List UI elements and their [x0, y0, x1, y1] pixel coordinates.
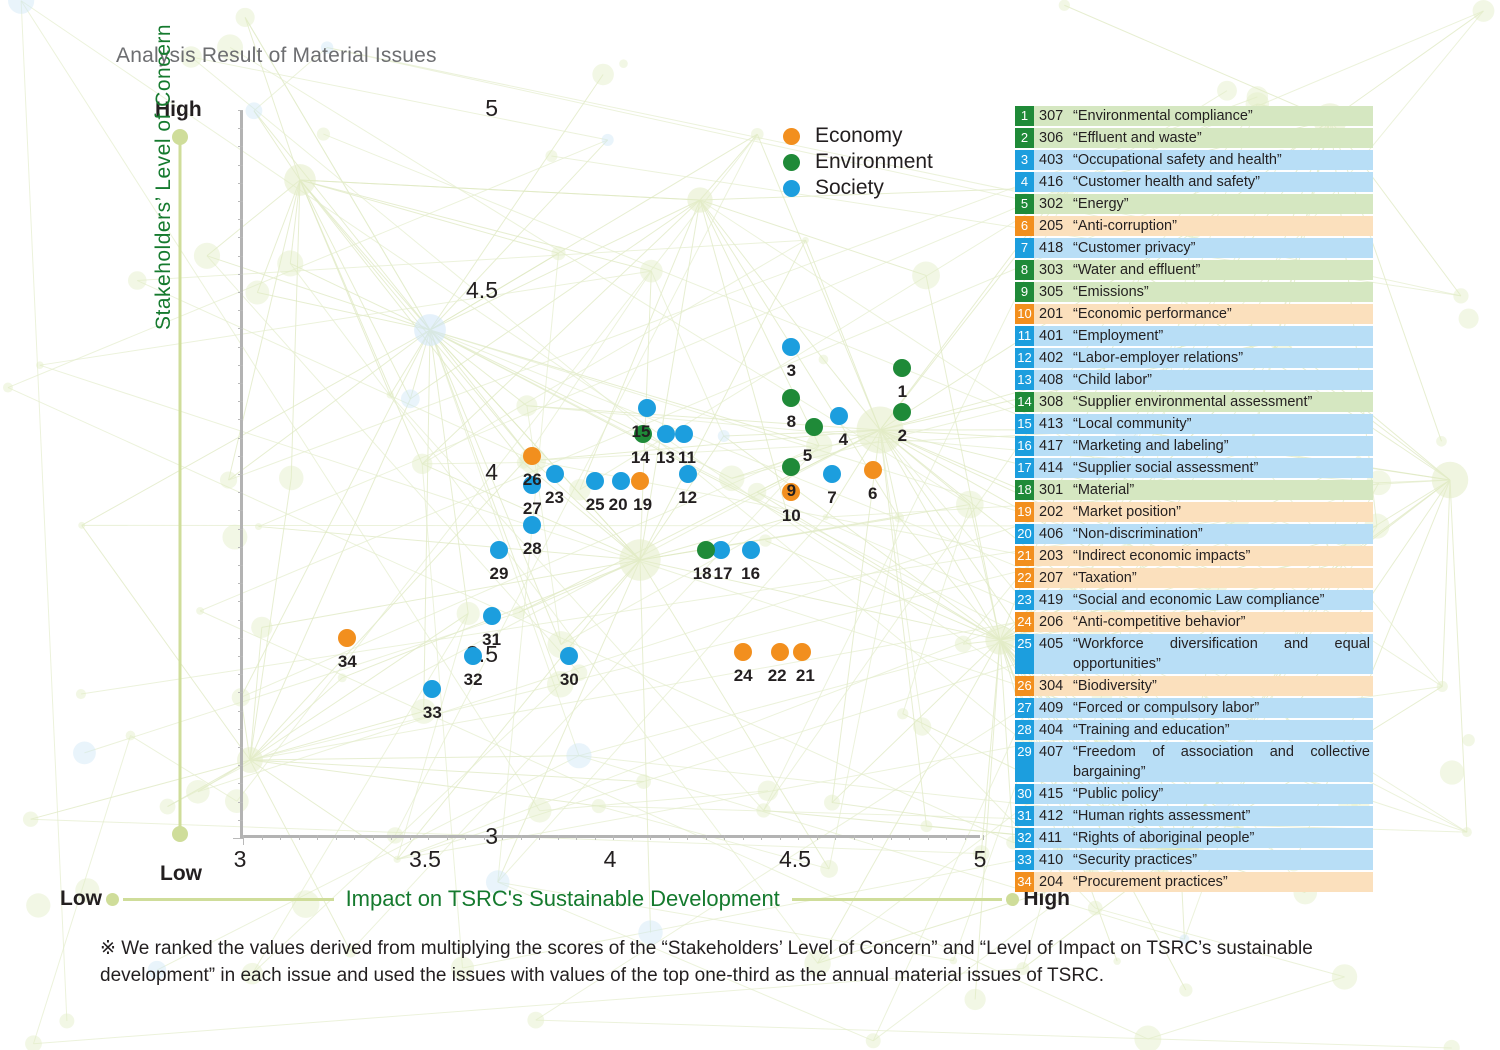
x-axis-left-dot: [106, 893, 119, 906]
issue-number-badge: 24: [1015, 612, 1034, 632]
x-axis-tick: [761, 835, 762, 840]
issue-name: “Anti-competitive behavior”: [1073, 612, 1373, 632]
issue-row[interactable]: 32411“Rights of aboriginal people”: [1015, 828, 1373, 848]
x-axis-tick: [539, 835, 540, 840]
issue-row[interactable]: 24206“Anti-competitive behavior”: [1015, 612, 1373, 632]
issue-row[interactable]: 20406“Non-discrimination”: [1015, 524, 1373, 544]
issue-body: 205“Anti-corruption”: [1034, 216, 1373, 236]
y-axis-tick: [238, 237, 243, 238]
x-axis-tick-label: 5: [940, 846, 1020, 873]
x-axis-low-label: Low: [60, 887, 102, 911]
issue-code: 401: [1039, 326, 1073, 346]
issue-code: 418: [1039, 238, 1073, 258]
issue-body: 412“Human rights assessment”: [1034, 806, 1373, 826]
issue-number-badge: 9: [1015, 282, 1034, 302]
issue-number-badge: 33: [1015, 850, 1034, 870]
y-axis-tick: [238, 547, 243, 548]
x-axis-tick: [983, 835, 984, 840]
x-axis-tick: [928, 835, 929, 840]
issue-code: 408: [1039, 370, 1073, 390]
issue-name: “Forced or compulsory labor”: [1073, 698, 1373, 718]
x-axis-tick: [854, 835, 855, 840]
issue-code: 410: [1039, 850, 1073, 870]
x-axis-tick: [558, 835, 559, 840]
scatter-point-label-29: 29: [490, 564, 509, 584]
scatter-point-label-24: 24: [734, 666, 753, 686]
y-axis-tick: [238, 620, 243, 621]
issue-row[interactable]: 29407“Freedom of association and collect…: [1015, 742, 1373, 782]
issue-row[interactable]: 21203“Indirect economic impacts”: [1015, 546, 1373, 566]
scatter-point-label-11: 11: [678, 448, 696, 468]
issue-name: “Public policy”: [1073, 784, 1373, 804]
issue-name: “Procurement practices”: [1073, 872, 1373, 892]
issue-row[interactable]: 8303“Water and effluent”: [1015, 260, 1373, 280]
issue-code: 207: [1039, 568, 1073, 588]
legend-swatch-icon: [783, 180, 800, 197]
x-axis-tick: [613, 835, 614, 840]
x-axis-tick: [650, 835, 651, 840]
issue-row[interactable]: 17414“Supplier social assessment”: [1015, 458, 1373, 478]
scatter-point-label-7: 7: [827, 488, 836, 508]
issue-code: 303: [1039, 260, 1073, 280]
y-axis-tick: [238, 146, 243, 147]
issue-number-badge: 12: [1015, 348, 1034, 368]
issue-row[interactable]: 26304“Biodiversity”: [1015, 676, 1373, 696]
y-axis-tick-label: 4.5: [238, 277, 498, 304]
issue-body: 306“Effluent and waste”: [1034, 128, 1373, 148]
y-axis-tick: [238, 201, 243, 202]
x-axis-tick: [502, 835, 503, 840]
scatter-point-label-27: 27: [523, 499, 542, 519]
chart-legend: EconomyEnvironmentSociety: [783, 124, 933, 202]
issue-code: 301: [1039, 480, 1073, 500]
issue-name: “Energy”: [1073, 194, 1373, 214]
x-axis-tick: [817, 835, 818, 840]
issue-body: 304“Biodiversity”: [1034, 676, 1373, 696]
issue-row[interactable]: 27409“Forced or compulsory labor”: [1015, 698, 1373, 718]
issue-code: 302: [1039, 194, 1073, 214]
issue-body: 411“Rights of aboriginal people”: [1034, 828, 1373, 848]
y-axis-tick: [238, 711, 243, 712]
x-axis-tick-label: 4.5: [755, 846, 835, 873]
issue-number-badge: 18: [1015, 480, 1034, 500]
scatter-point-label-13: 13: [656, 448, 675, 468]
y-axis-tick: [238, 601, 243, 602]
scatter-point-label-33: 33: [423, 703, 442, 723]
issue-name: “Child labor”: [1073, 370, 1373, 390]
issue-row[interactable]: 10201“Economic performance”: [1015, 304, 1373, 324]
issue-number-badge: 28: [1015, 720, 1034, 740]
scatter-point-label-16: 16: [741, 564, 760, 584]
scatter-point-label-28: 28: [523, 539, 542, 559]
issue-row[interactable]: 9305“Emissions”: [1015, 282, 1373, 302]
scatter-point-label-21: 21: [796, 666, 815, 686]
y-axis-title: Stakeholders’ Level of Concern: [152, 0, 176, 330]
issue-row[interactable]: 4416“Customer health and safety”: [1015, 172, 1373, 192]
issue-code: 307: [1039, 106, 1073, 126]
issue-code: 305: [1039, 282, 1073, 302]
y-axis-tick: [238, 419, 243, 420]
y-axis-tick: [238, 565, 243, 566]
x-axis-tick: [706, 835, 707, 840]
issue-code: 412: [1039, 806, 1073, 826]
issue-name: “Market position”: [1073, 502, 1373, 522]
issue-body: 408“Child labor”: [1034, 370, 1373, 390]
issue-row[interactable]: 16417“Marketing and labeling”: [1015, 436, 1373, 456]
scatter-point-3: [782, 338, 800, 356]
scatter-point-label-4: 4: [839, 430, 848, 450]
issue-body: 417“Marketing and labeling”: [1034, 436, 1373, 456]
issue-name: “Occupational safety and health”: [1073, 150, 1373, 170]
issue-code: 404: [1039, 720, 1073, 740]
scatter-point-label-19: 19: [633, 495, 652, 515]
y-axis-tick: [238, 383, 243, 384]
issue-name: “Local community”: [1073, 414, 1373, 434]
y-axis-tick: [238, 165, 243, 166]
y-axis-tick: [238, 583, 243, 584]
issue-code: 201: [1039, 304, 1073, 324]
scatter-point-label-26: 26: [523, 470, 542, 490]
issue-body: 308“Supplier environmental assessment”: [1034, 392, 1373, 412]
issue-number-badge: 20: [1015, 524, 1034, 544]
scatter-point-label-34: 34: [338, 652, 357, 672]
scatter-point-23: [546, 465, 564, 483]
issue-body: 202“Market position”: [1034, 502, 1373, 522]
issue-row[interactable]: 15413“Local community”: [1015, 414, 1373, 434]
y-axis-low-label: Low: [160, 862, 202, 886]
x-axis-tick-label: 4: [570, 846, 650, 873]
issue-code: 411: [1039, 828, 1073, 848]
y-axis-tick: [238, 765, 243, 766]
issue-name: “Environmental compliance”: [1073, 106, 1373, 126]
issue-name: “Rights of aboriginal people”: [1073, 828, 1373, 848]
issue-code: 407: [1039, 742, 1073, 762]
issue-row[interactable]: 1307“Environmental compliance”: [1015, 106, 1373, 126]
issue-code: 202: [1039, 502, 1073, 522]
issue-body: 305“Emissions”: [1034, 282, 1373, 302]
issue-code: 203: [1039, 546, 1073, 566]
issue-name: “Supplier environmental assessment”: [1073, 392, 1373, 412]
issue-number-badge: 5: [1015, 194, 1034, 214]
y-axis-tick: [238, 365, 243, 366]
y-axis-tick: [238, 638, 243, 639]
issue-name: “Freedom of association and collective b…: [1073, 742, 1373, 782]
y-axis-tick: [238, 674, 243, 675]
scatter-point-label-10: 10: [782, 506, 801, 526]
x-axis-tick: [891, 835, 892, 840]
issue-body: 403“Occupational safety and health”: [1034, 150, 1373, 170]
issue-name: “Marketing and labeling”: [1073, 436, 1373, 456]
issue-code: 409: [1039, 698, 1073, 718]
issue-row[interactable]: 5302“Energy”: [1015, 194, 1373, 214]
issue-number-badge: 32: [1015, 828, 1034, 848]
scatter-point-11: [675, 425, 693, 443]
scatter-point-label-20: 20: [609, 495, 628, 515]
y-axis-tick: [238, 401, 243, 402]
issue-name: “Indirect economic impacts”: [1073, 546, 1373, 566]
scatter-point-13: [657, 425, 675, 443]
issue-row[interactable]: 11401“Employment”: [1015, 326, 1373, 346]
issue-code: 416: [1039, 172, 1073, 192]
y-axis-tick: [238, 128, 243, 129]
scatter-point-32: [464, 647, 482, 665]
issue-row[interactable]: 30415“Public policy”: [1015, 784, 1373, 804]
issue-row[interactable]: 25405“Workforce diversification and equa…: [1015, 634, 1373, 674]
x-axis-right-dot: [1006, 893, 1019, 906]
issue-number-badge: 8: [1015, 260, 1034, 280]
x-axis-tick-label: 3.5: [385, 846, 465, 873]
x-axis-right-rule: [792, 898, 1003, 901]
issue-code: 308: [1039, 392, 1073, 412]
y-axis-tick: [238, 802, 243, 803]
y-axis-tick-label: 5: [238, 95, 498, 122]
scatter-point-label-12: 12: [678, 488, 697, 508]
issue-body: 415“Public policy”: [1034, 784, 1373, 804]
y-axis-tick: [238, 747, 243, 748]
x-axis-tick: [576, 835, 577, 840]
issue-number-badge: 15: [1015, 414, 1034, 434]
scatter-point-label-14: 14: [631, 448, 650, 468]
x-axis-tick: [798, 835, 799, 840]
issue-name: “Customer privacy”: [1073, 238, 1373, 258]
scatter-point-label-18: 18: [693, 564, 712, 584]
legend-swatch-icon: [783, 128, 800, 145]
issue-body: 407“Freedom of association and collectiv…: [1034, 742, 1373, 782]
issue-number-badge: 10: [1015, 304, 1034, 324]
issue-body: 201“Economic performance”: [1034, 304, 1373, 324]
y-axis-tick: [238, 492, 243, 493]
scatter-point-label-3: 3: [787, 361, 796, 381]
x-axis-tick: [595, 835, 596, 840]
scatter-point-8: [782, 389, 800, 407]
issue-row[interactable]: 13408“Child labor”: [1015, 370, 1373, 390]
legend-item-label: Economy: [815, 124, 903, 148]
y-axis-tick: [238, 183, 243, 184]
issue-row[interactable]: 6205“Anti-corruption”: [1015, 216, 1373, 236]
issue-number-badge: 4: [1015, 172, 1034, 192]
issue-number-badge: 1: [1015, 106, 1034, 126]
x-axis-tick: [780, 835, 781, 840]
issue-row[interactable]: 7418“Customer privacy”: [1015, 238, 1373, 258]
issue-body: 414“Supplier social assessment”: [1034, 458, 1373, 478]
issue-row[interactable]: 28404“Training and education”: [1015, 720, 1373, 740]
issue-code: 402: [1039, 348, 1073, 368]
issue-row[interactable]: 18301“Material”: [1015, 480, 1373, 500]
issue-number-badge: 21: [1015, 546, 1034, 566]
issue-number-badge: 23: [1015, 590, 1034, 610]
scatter-point-31: [483, 607, 501, 625]
scatter-point-label-22: 22: [768, 666, 787, 686]
issue-code: 415: [1039, 784, 1073, 804]
issue-row[interactable]: 12402“Labor-employer relations”: [1015, 348, 1373, 368]
issue-name: “Supplier social assessment”: [1073, 458, 1373, 478]
scatter-point-label-2: 2: [898, 426, 907, 446]
y-axis-tick: [238, 456, 243, 457]
scatter-point-label-1: 1: [898, 382, 907, 402]
issue-body: 303“Water and effluent”: [1034, 260, 1373, 280]
issue-number-badge: 2: [1015, 128, 1034, 148]
legend-item-economy: Economy: [783, 124, 933, 148]
y-axis-tick: [238, 219, 243, 220]
issue-name: “Anti-corruption”: [1073, 216, 1373, 236]
issue-row[interactable]: 34204“Procurement practices”: [1015, 872, 1373, 892]
x-axis-tick: [632, 835, 633, 840]
issue-number-badge: 14: [1015, 392, 1034, 412]
issue-row[interactable]: 33410“Security practices”: [1015, 850, 1373, 870]
issue-name: “Training and education”: [1073, 720, 1373, 740]
y-axis-tick: [238, 347, 243, 348]
issue-code: 405: [1039, 634, 1073, 654]
issue-number-badge: 6: [1015, 216, 1034, 236]
issue-number-badge: 13: [1015, 370, 1034, 390]
y-axis-tick: [238, 256, 243, 257]
issue-number-badge: 22: [1015, 568, 1034, 588]
issue-body: 401“Employment”: [1034, 326, 1373, 346]
scatter-point-19: [631, 472, 649, 490]
issue-name: “Human rights assessment”: [1073, 806, 1373, 826]
x-axis-tick: [946, 835, 947, 840]
issue-code: 306: [1039, 128, 1073, 148]
issue-number-badge: 7: [1015, 238, 1034, 258]
x-axis-title-row: Low Impact on TSRC's Sustainable Develop…: [60, 884, 1070, 914]
issue-body: 206“Anti-competitive behavior”: [1034, 612, 1373, 632]
issue-name: “Material”: [1073, 480, 1373, 500]
scatter-point-label-15: 15: [632, 422, 651, 442]
issue-body: 302“Energy”: [1034, 194, 1373, 214]
issue-row[interactable]: 23419“Social and economic Law compliance…: [1015, 590, 1373, 610]
issue-code: 206: [1039, 612, 1073, 632]
issue-number-badge: 25: [1015, 634, 1034, 674]
x-axis-tick: [835, 835, 836, 840]
scatter-point-9: [782, 458, 800, 476]
issue-number-badge: 19: [1015, 502, 1034, 522]
x-axis-title: Impact on TSRC's Sustainable Development: [334, 886, 792, 912]
issue-code: 414: [1039, 458, 1073, 478]
x-axis-tick: [965, 835, 966, 840]
issue-body: 413“Local community”: [1034, 414, 1373, 434]
y-axis-tick-label: 3.5: [238, 641, 498, 668]
issue-body: 207“Taxation”: [1034, 568, 1373, 588]
issue-row[interactable]: 19202“Market position”: [1015, 502, 1373, 522]
issue-body: 406“Non-discrimination”: [1034, 524, 1373, 544]
issue-code: 417: [1039, 436, 1073, 456]
issue-number-badge: 29: [1015, 742, 1034, 782]
issue-number-badge: 11: [1015, 326, 1034, 346]
issue-code: 413: [1039, 414, 1073, 434]
y-axis-tick: [238, 328, 243, 329]
issue-body: 203“Indirect economic impacts”: [1034, 546, 1373, 566]
legend-item-label: Environment: [815, 150, 933, 174]
issue-body: 419“Social and economic Law compliance”: [1034, 590, 1373, 610]
issue-code: 406: [1039, 524, 1073, 544]
y-axis-tick: [238, 438, 243, 439]
y-axis-tick: [238, 692, 243, 693]
y-axis-tick: [238, 510, 243, 511]
y-axis-tick: [238, 310, 243, 311]
issue-number-badge: 30: [1015, 784, 1034, 804]
scatter-point-label-6: 6: [868, 484, 877, 504]
issue-body: 405“Workforce diversification and equal …: [1034, 634, 1373, 674]
x-axis-tick-label: 3: [200, 846, 280, 873]
scatter-point-16: [742, 541, 760, 559]
issue-number-badge: 31: [1015, 806, 1034, 826]
x-axis-tick: [687, 835, 688, 840]
issue-row[interactable]: 14308“Supplier environmental assessment”: [1015, 392, 1373, 412]
issue-body: 410“Security practices”: [1034, 850, 1373, 870]
footnote: ※ We ranked the values derived from mult…: [100, 936, 1420, 990]
legend-item-label: Society: [815, 176, 884, 200]
issue-body: 301“Material”: [1034, 480, 1373, 500]
issue-row[interactable]: 3403“Occupational safety and health”: [1015, 150, 1373, 170]
issue-number-badge: 27: [1015, 698, 1034, 718]
issue-row[interactable]: 31412“Human rights assessment”: [1015, 806, 1373, 826]
issue-name: “Security practices”: [1073, 850, 1373, 870]
scatter-point-label-30: 30: [560, 670, 579, 690]
issue-name: “Labor-employer relations”: [1073, 348, 1373, 368]
y-axis-tick-label: 4: [238, 459, 498, 486]
issue-name: “Emissions”: [1073, 282, 1373, 302]
issue-code: 205: [1039, 216, 1073, 236]
issue-name: “Customer health and safety”: [1073, 172, 1373, 192]
x-axis-tick: [521, 835, 522, 840]
issue-code: 403: [1039, 150, 1073, 170]
scatter-point-label-17: 17: [714, 564, 733, 584]
issue-name: “Biodiversity”: [1073, 676, 1373, 696]
issue-number-badge: 16: [1015, 436, 1034, 456]
scatter-point-26: [523, 447, 541, 465]
scatter-point-label-5: 5: [803, 446, 812, 466]
issue-name: “Water and effluent”: [1073, 260, 1373, 280]
issue-code: 204: [1039, 872, 1073, 892]
issue-body: 204“Procurement practices”: [1034, 872, 1373, 892]
x-axis-tick: [724, 835, 725, 840]
y-axis-tick: [238, 729, 243, 730]
issue-body: 409“Forced or compulsory labor”: [1034, 698, 1373, 718]
scatter-point-label-25: 25: [586, 495, 605, 515]
issue-number-badge: 17: [1015, 458, 1034, 478]
issue-number-badge: 3: [1015, 150, 1034, 170]
issue-name: “Non-discrimination”: [1073, 524, 1373, 544]
scatter-point-5: [805, 418, 823, 436]
issue-row[interactable]: 2306“Effluent and waste”: [1015, 128, 1373, 148]
scatter-point-label-32: 32: [464, 670, 483, 690]
x-axis-tick: [669, 835, 670, 840]
issue-name: “Employment”: [1073, 326, 1373, 346]
y-axis-tick: [238, 529, 243, 530]
issue-body: 402“Labor-employer relations”: [1034, 348, 1373, 368]
issue-code: 419: [1039, 590, 1073, 610]
scatter-point-7: [823, 465, 841, 483]
issue-name: “Workforce diversification and equal opp…: [1073, 634, 1373, 674]
issue-name: “Social and economic Law compliance”: [1073, 590, 1373, 610]
issue-name: “Economic performance”: [1073, 304, 1373, 324]
issue-list: 1307“Environmental compliance”2306“Efflu…: [1015, 106, 1373, 894]
issue-row[interactable]: 22207“Taxation”: [1015, 568, 1373, 588]
x-axis-left-rule: [123, 898, 334, 901]
legend-item-society: Society: [783, 176, 933, 200]
x-axis-tick: [909, 835, 910, 840]
scatter-point-6: [864, 461, 882, 479]
issue-body: 307“Environmental compliance”: [1034, 106, 1373, 126]
issue-body: 418“Customer privacy”: [1034, 238, 1373, 258]
legend-swatch-icon: [783, 154, 800, 171]
x-axis-tick: [743, 835, 744, 840]
legend-item-environment: Environment: [783, 150, 933, 174]
scatter-point-label-31: 31: [482, 630, 501, 650]
y-axis-tick: [238, 783, 243, 784]
issue-body: 416“Customer health and safety”: [1034, 172, 1373, 192]
scatter-point-label-8: 8: [787, 412, 796, 432]
